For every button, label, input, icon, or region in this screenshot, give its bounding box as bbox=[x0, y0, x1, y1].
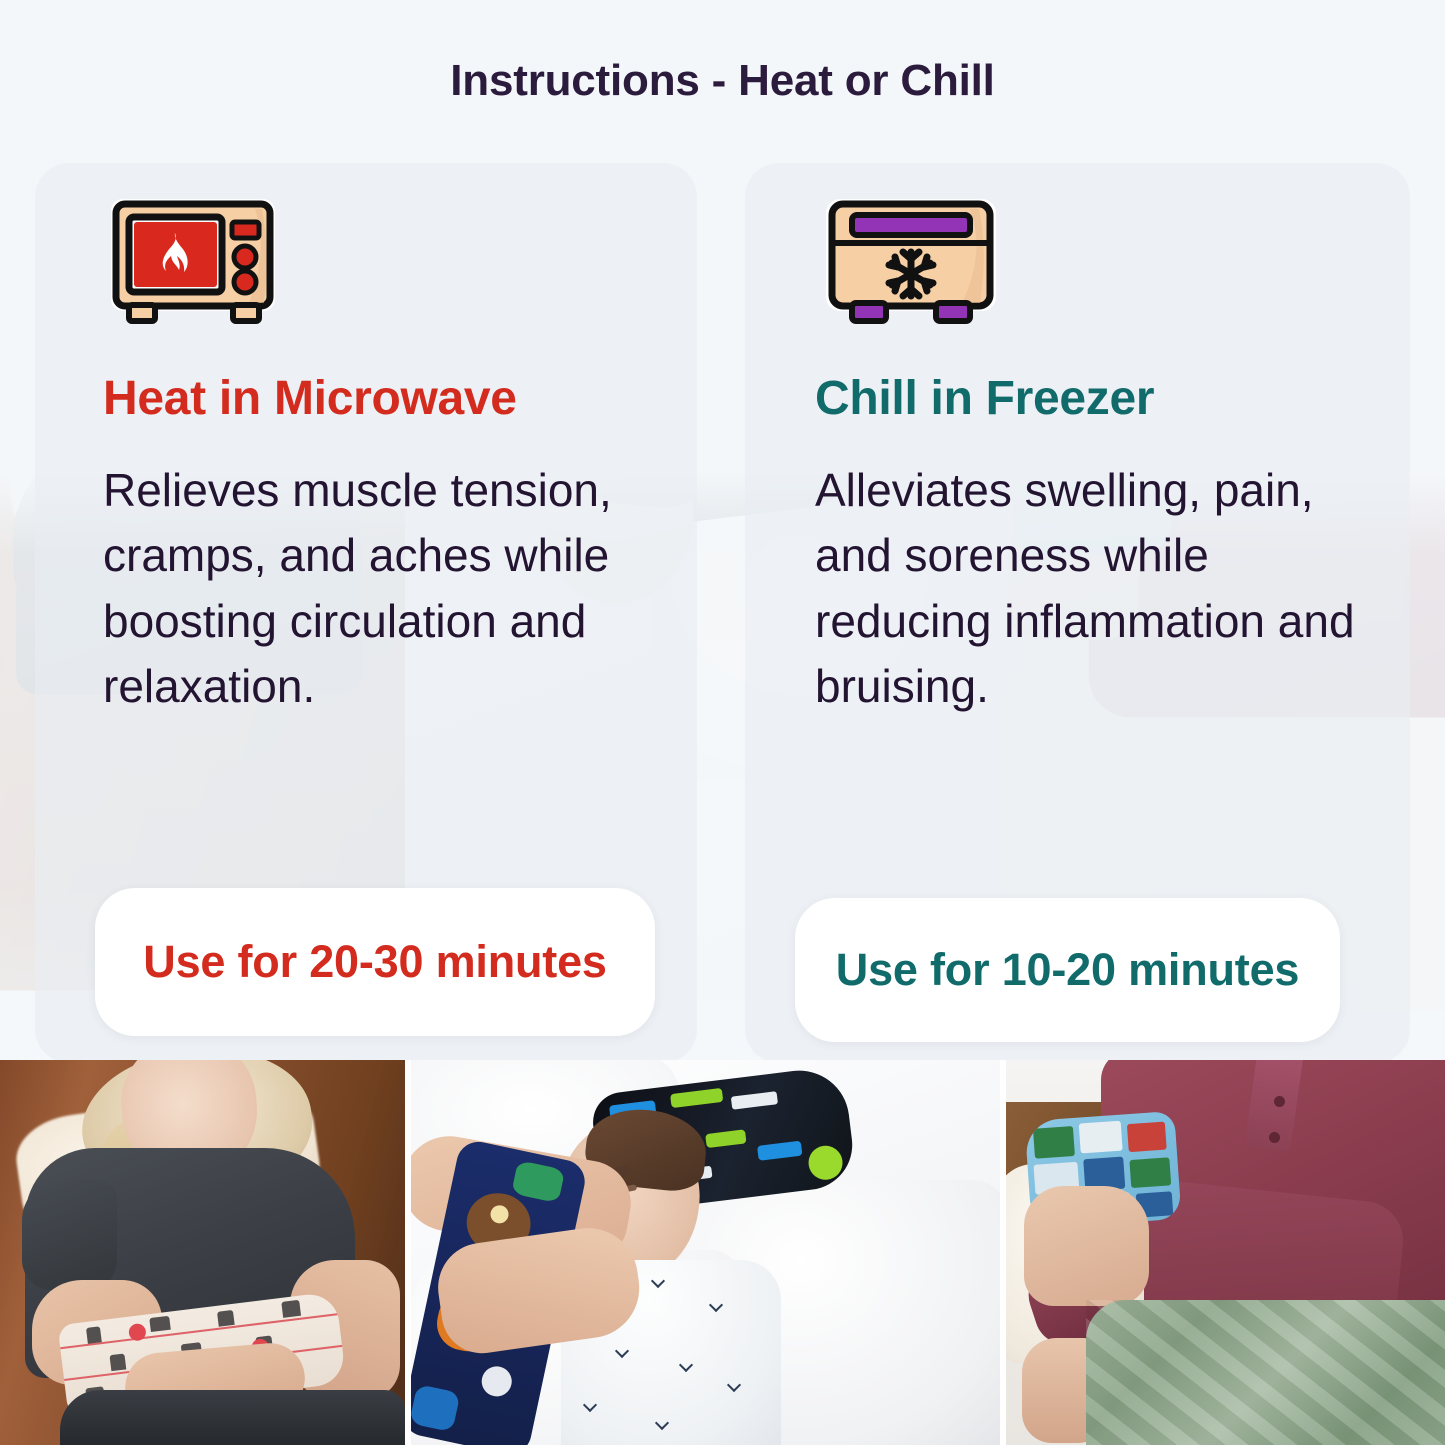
body-heat: Relieves muscle tension, cramps, and ach… bbox=[103, 458, 703, 719]
microwave-icon bbox=[105, 195, 281, 334]
photo-man-arm bbox=[1006, 1060, 1445, 1445]
pill-chill-label: Use for 10-20 minutes bbox=[836, 944, 1299, 996]
photo-woman-abdomen bbox=[0, 1060, 405, 1445]
page-title: Instructions - Heat or Chill bbox=[0, 56, 1445, 106]
freezer-icon bbox=[818, 195, 1004, 334]
pill-heat-duration[interactable]: Use for 20-30 minutes bbox=[95, 888, 655, 1036]
pill-heat-label: Use for 20-30 minutes bbox=[143, 936, 606, 988]
infographic-root: Instructions - Heat or Chill bbox=[0, 0, 1445, 1445]
heading-chill: Chill in Freezer bbox=[815, 371, 1154, 426]
photo-strip bbox=[0, 1060, 1445, 1445]
pill-chill-duration[interactable]: Use for 10-20 minutes bbox=[795, 898, 1340, 1042]
photo-boy-bed bbox=[411, 1060, 1000, 1445]
heading-heat: Heat in Microwave bbox=[103, 371, 517, 426]
body-chill: Alleviates swelling, pain, and soreness … bbox=[815, 458, 1395, 719]
